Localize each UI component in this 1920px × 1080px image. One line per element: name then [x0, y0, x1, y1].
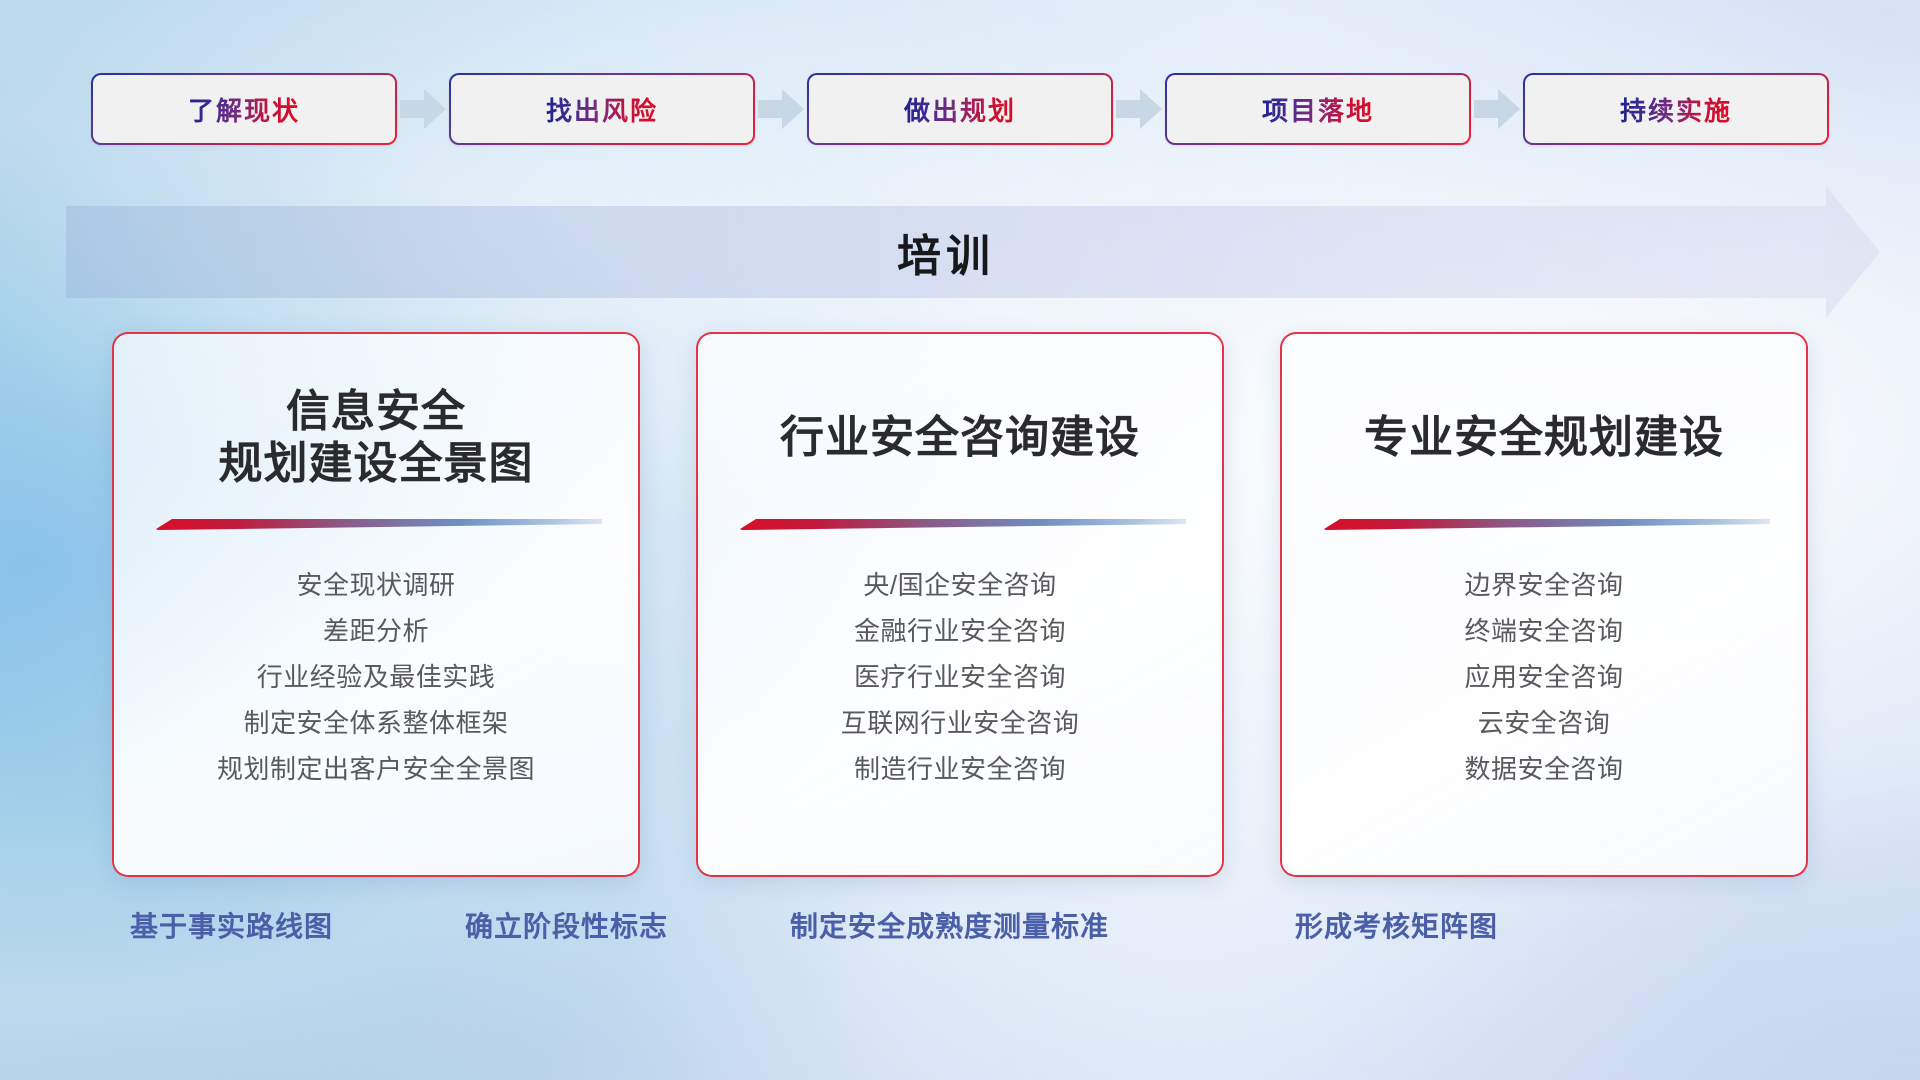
list-item: 应用安全咨询: [1308, 654, 1780, 700]
service-card-title: 行业安全咨询建设: [724, 382, 1196, 494]
process-step-2[interactable]: 找出风险: [449, 73, 755, 145]
service-card-title: 信息安全规划建设全景图: [140, 382, 612, 494]
service-card-title-line1: 行业安全咨询建设: [724, 412, 1196, 464]
list-item: 边界安全咨询: [1308, 562, 1780, 608]
bottom-captions-row: 基于事实路线图确立阶段性标志制定安全成熟度测量标准形成考核矩阵图: [0, 905, 1920, 975]
service-card-title-line1: 专业安全规划建设: [1308, 412, 1780, 464]
list-item: 行业经验及最佳实践: [140, 654, 612, 700]
list-item: 云安全咨询: [1308, 700, 1780, 746]
list-item: 金融行业安全咨询: [724, 608, 1196, 654]
service-card-list: 边界安全咨询终端安全咨询应用安全咨询云安全咨询数据安全咨询: [1308, 562, 1780, 792]
list-item: 央/国企安全咨询: [724, 562, 1196, 608]
service-card-1[interactable]: 信息安全规划建设全景图安全现状调研差距分析行业经验及最佳实践制定安全体系整体框架…: [112, 332, 640, 877]
service-card-list: 安全现状调研差距分析行业经验及最佳实践制定安全体系整体框架规划制定出客户安全全景…: [140, 562, 612, 792]
list-item: 数据安全咨询: [1308, 746, 1780, 792]
process-step-1[interactable]: 了解现状: [91, 73, 397, 145]
service-card-divider: [1318, 516, 1770, 532]
service-card-title-line2: 规划建设全景图: [140, 438, 612, 490]
service-cards-row: 信息安全规划建设全景图安全现状调研差距分析行业经验及最佳实践制定安全体系整体框架…: [0, 332, 1920, 877]
chevron-right-arrow-icon: [1471, 73, 1523, 145]
list-item: 医疗行业安全咨询: [724, 654, 1196, 700]
list-item: 制造行业安全咨询: [724, 746, 1196, 792]
bottom-caption-3: 制定安全成熟度测量标准: [790, 905, 1109, 945]
list-item: 互联网行业安全咨询: [724, 700, 1196, 746]
process-step-5[interactable]: 持续实施: [1523, 73, 1829, 145]
bottom-caption-2: 确立阶段性标志: [465, 905, 668, 945]
process-step-label: 持续实施: [1620, 91, 1732, 128]
service-card-divider: [150, 516, 602, 532]
process-steps-row: 了解现状找出风险做出规划项目落地持续实施: [0, 66, 1920, 152]
list-item: 差距分析: [140, 608, 612, 654]
service-card-divider: [734, 516, 1186, 532]
chevron-right-arrow-icon: [755, 73, 807, 145]
list-item: 安全现状调研: [140, 562, 612, 608]
process-step-label: 找出风险: [546, 91, 658, 128]
list-item: 终端安全咨询: [1308, 608, 1780, 654]
process-step-4[interactable]: 项目落地: [1165, 73, 1471, 145]
service-card-title: 专业安全规划建设: [1308, 382, 1780, 494]
process-step-label: 了解现状: [188, 91, 300, 128]
training-banner: 培训: [66, 206, 1866, 298]
bottom-caption-4: 形成考核矩阵图: [1295, 905, 1498, 945]
list-item: 制定安全体系整体框架: [140, 700, 612, 746]
service-card-title-line1: 信息安全: [140, 386, 612, 438]
process-step-label: 做出规划: [904, 91, 1016, 128]
chevron-right-arrow-icon: [397, 73, 449, 145]
service-card-3[interactable]: 专业安全规划建设边界安全咨询终端安全咨询应用安全咨询云安全咨询数据安全咨询: [1280, 332, 1808, 877]
list-item: 规划制定出客户安全全景图: [140, 746, 612, 792]
chevron-right-arrow-icon: [1113, 73, 1165, 145]
process-step-3[interactable]: 做出规划: [807, 73, 1113, 145]
training-banner-title: 培训: [66, 206, 1866, 298]
service-card-2[interactable]: 行业安全咨询建设央/国企安全咨询金融行业安全咨询医疗行业安全咨询互联网行业安全咨…: [696, 332, 1224, 877]
process-step-label: 项目落地: [1262, 91, 1374, 128]
bottom-caption-1: 基于事实路线图: [130, 905, 333, 945]
service-card-list: 央/国企安全咨询金融行业安全咨询医疗行业安全咨询互联网行业安全咨询制造行业安全咨…: [724, 562, 1196, 792]
